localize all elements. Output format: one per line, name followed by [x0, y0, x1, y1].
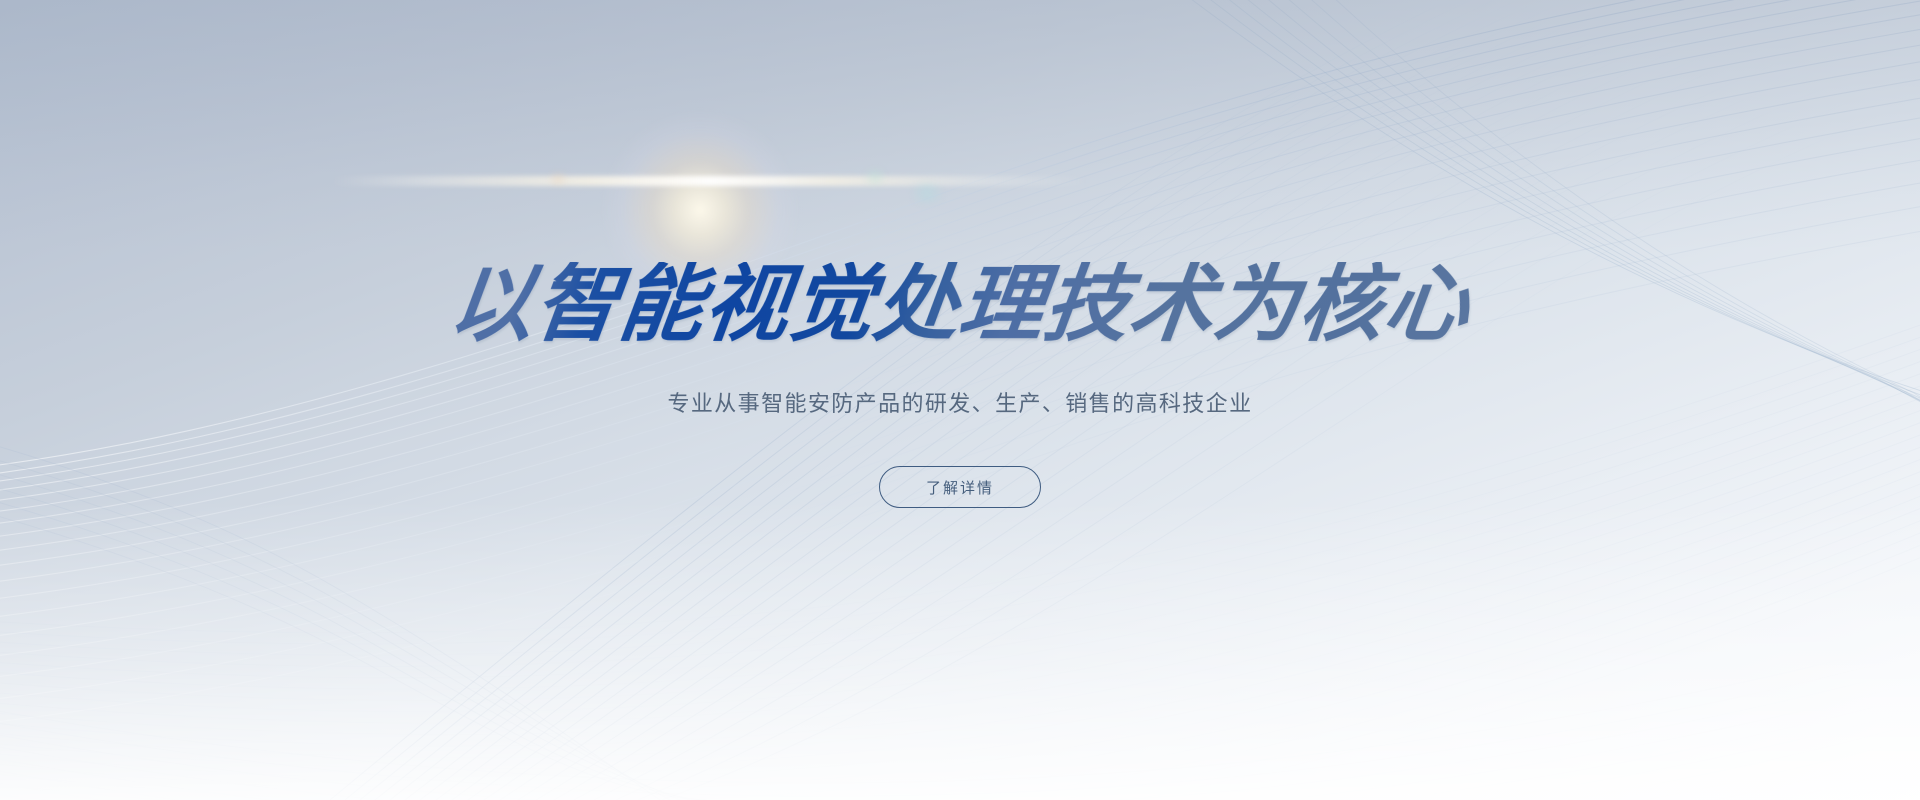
- hero-content: 以智能视觉处理技术为核心 专业从事智能安防产品的研发、生产、销售的高科技企业 了…: [0, 0, 1920, 800]
- learn-more-button[interactable]: 了解详情: [879, 466, 1041, 508]
- hero-banner: 以智能视觉处理技术为核心 专业从事智能安防产品的研发、生产、销售的高科技企业 了…: [0, 0, 1920, 800]
- hero-subtitle: 专业从事智能安防产品的研发、生产、销售的高科技企业: [667, 386, 1252, 418]
- hero-headline: 以智能视觉处理技术为核心: [445, 262, 1475, 346]
